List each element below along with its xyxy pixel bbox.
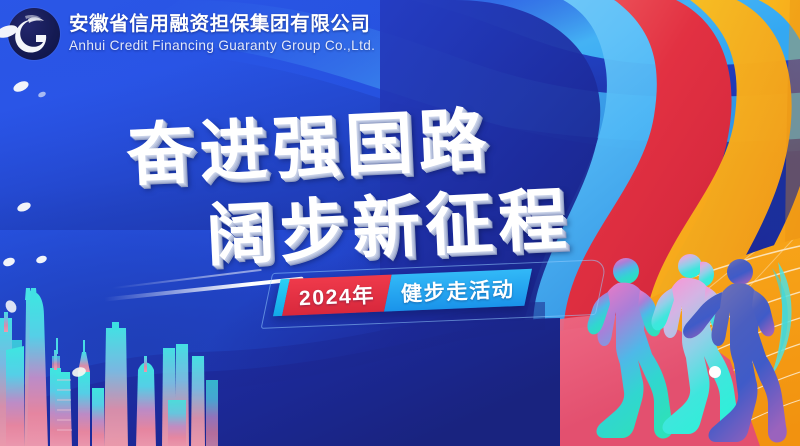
year-label: 2024年 bbox=[298, 279, 375, 312]
headline-line-2: 阔步新征程 bbox=[204, 164, 573, 279]
promotional-banner: 安徽省信用融资担保集团有限公司 Anhui Credit Financing G… bbox=[0, 0, 800, 446]
company-name-en: Anhui Credit Financing Guaranty Group Co… bbox=[69, 39, 375, 53]
company-name-cn: 安徽省信用融资担保集团有限公司 bbox=[69, 15, 375, 35]
event-label: 健步走活动 bbox=[401, 273, 516, 307]
headline-line-2-text: 阔步新征程 bbox=[204, 164, 573, 279]
sub-ribbon-year-section: 2024年 bbox=[282, 275, 392, 316]
sub-ribbon-event-section: 健步走活动 bbox=[384, 269, 531, 312]
brand-header: 安徽省信用融资担保集团有限公司 Anhui Credit Financing G… bbox=[8, 8, 375, 60]
company-g-logo-icon bbox=[8, 8, 60, 60]
